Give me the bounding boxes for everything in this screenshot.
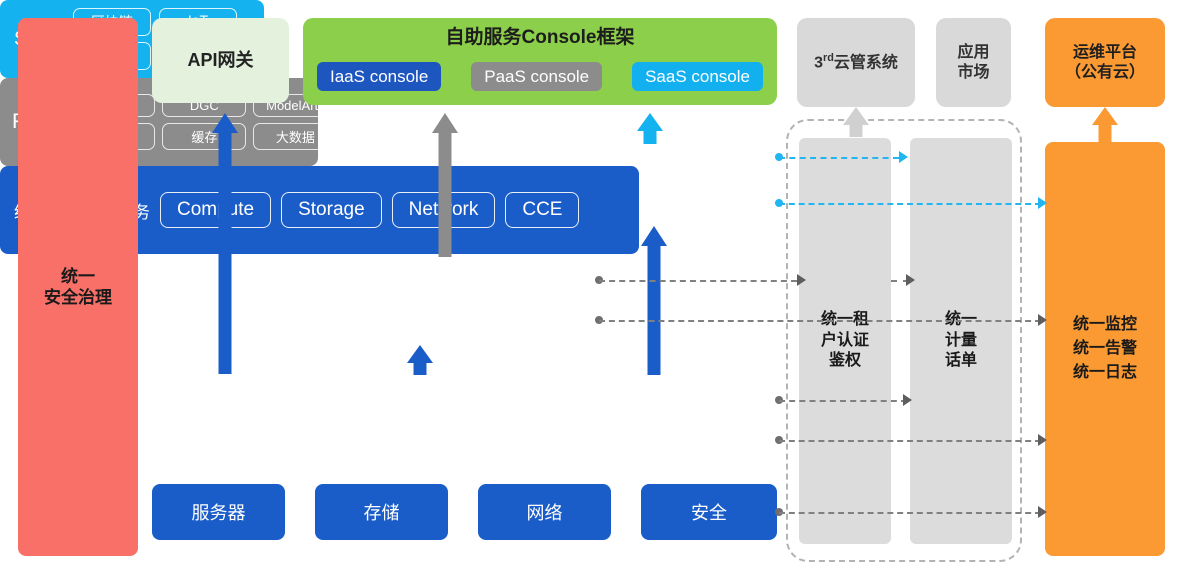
paas-console-button[interactable]: PaaS console: [471, 62, 602, 91]
arrowhead-right-icon: [797, 274, 806, 286]
arrow-to-ops-platform-public: [1092, 107, 1118, 143]
arrow-saas-to-console: [637, 113, 663, 144]
iaas-console-button[interactable]: IaaS console: [317, 62, 441, 91]
saas-console-button[interactable]: SaaS console: [632, 62, 763, 91]
arrow-infra-to-api-gateway: [212, 113, 238, 374]
app-market-box[interactable]: 应用 市场: [936, 18, 1011, 107]
third-party-superscript: rd: [823, 52, 834, 64]
arrow-shaft: [1099, 123, 1112, 143]
dashed-line-paas-to-ops: [599, 320, 1041, 322]
dashed-line-saas-to-auth: [779, 157, 899, 159]
ops-platform-public-cloud-label: 运维平台 （公有云）: [1065, 43, 1145, 83]
paas-chip-bigdata[interactable]: 大数据: [253, 123, 337, 150]
dashed-line-infra-to-ops: [779, 440, 1041, 442]
arrow-shaft: [219, 131, 232, 374]
arrow-shaft: [439, 131, 452, 257]
arrow-infra-to-saas: [641, 226, 667, 375]
resource-box-security[interactable]: 安全: [641, 484, 777, 540]
console-pill-group: IaaS console PaaS console SaaS console: [317, 62, 763, 91]
security-governance-panel[interactable]: 统一 安全治理: [18, 18, 138, 556]
arrow-infra-to-paas: [407, 345, 433, 375]
ops-platform-public-cloud-box[interactable]: 运维平台 （公有云）: [1045, 18, 1165, 107]
arrowhead-up-icon: [641, 226, 667, 246]
third-party-cloud-mgmt-box[interactable]: 3rd云管系统: [797, 18, 915, 107]
unified-ops-pillar-label: 统一监控 统一告警 统一日志: [1073, 313, 1137, 385]
arrowhead-right-icon: [899, 151, 908, 163]
infra-chip-storage[interactable]: Storage: [281, 192, 382, 228]
resource-label-server: 服务器: [192, 499, 246, 525]
arrowhead-right-icon: [1038, 506, 1047, 518]
arrowhead-right-icon: [1038, 197, 1047, 209]
resource-box-storage[interactable]: 存储: [315, 484, 448, 540]
resource-label-network: 网络: [527, 499, 563, 525]
resource-label-security: 安全: [691, 499, 727, 525]
resource-label-storage: 存储: [364, 499, 400, 525]
unified-tenant-auth-column[interactable]: 统一租 户认证 鉴权: [799, 138, 891, 544]
infra-chip-cce[interactable]: CCE: [505, 192, 579, 228]
arrow-shaft: [850, 123, 863, 137]
unified-ops-pillar[interactable]: 统一监控 统一告警 统一日志: [1045, 142, 1165, 556]
api-gateway-box[interactable]: API网关: [152, 18, 289, 103]
arrowhead-right-icon: [1038, 314, 1047, 326]
app-market-label: 应用 市场: [957, 43, 989, 83]
dashed-line-infra-to-metering: [779, 400, 907, 402]
api-gateway-label: API网关: [187, 49, 253, 72]
arrow-shaft: [644, 129, 657, 144]
arrow-to-third-party-cloud: [843, 107, 869, 137]
resource-box-network[interactable]: 网络: [478, 484, 611, 540]
arrowhead-up-icon: [432, 113, 458, 133]
architecture-diagram: 统一 安全治理 API网关 自助服务Console框架 IaaS console…: [0, 0, 1200, 574]
arrow-shaft: [414, 361, 427, 375]
arrow-shaft: [648, 244, 661, 375]
console-frame-title: 自助服务Console框架: [303, 26, 777, 50]
dashed-line-saas-to-ops: [779, 203, 1041, 205]
dashed-line-resources-to-ops: [779, 512, 1041, 514]
third-party-cloud-mgmt-label: 3rd云管系统: [814, 52, 898, 73]
security-governance-label: 统一 安全治理: [44, 266, 112, 309]
dashed-line-paas-to-auth: [599, 280, 797, 282]
arrowhead-right-icon: [906, 274, 915, 286]
resource-box-server[interactable]: 服务器: [152, 484, 285, 540]
arrowhead-right-icon: [903, 394, 912, 406]
arrowhead-right-icon: [1038, 434, 1047, 446]
self-service-console-frame[interactable]: 自助服务Console框架 IaaS console PaaS console …: [303, 18, 777, 105]
arrowhead-up-icon: [212, 113, 238, 133]
arrow-paas-to-console: [432, 113, 458, 257]
unified-metering-column[interactable]: 统一 计量 话单: [910, 138, 1012, 544]
